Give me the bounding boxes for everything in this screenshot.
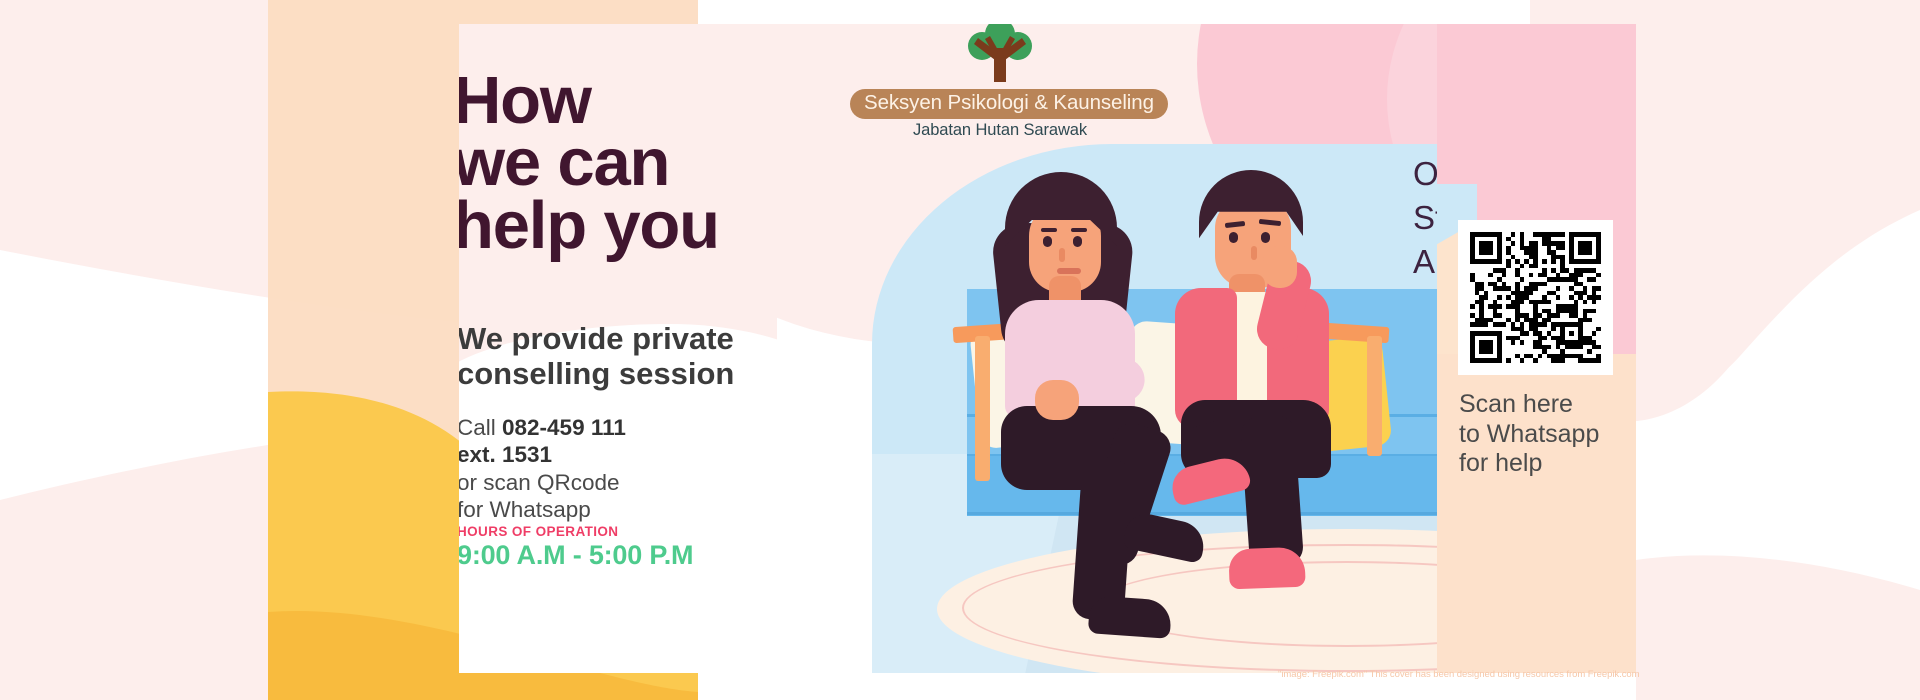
qr-panel: Scan here to Whatsapp for help bbox=[1437, 24, 1636, 673]
shoe-2 bbox=[1228, 547, 1305, 590]
eye-left bbox=[1229, 232, 1238, 243]
logo-department: Jabatan Hutan Sarawak bbox=[850, 121, 1150, 140]
mouth bbox=[1057, 268, 1081, 274]
qr-instruction-line-1: or scan QRcode bbox=[459, 469, 757, 496]
eye-right bbox=[1261, 232, 1270, 243]
sofa-leg-right bbox=[1367, 336, 1382, 456]
phone-number: 082-459 111 bbox=[502, 415, 626, 440]
eyebrow-left bbox=[1041, 228, 1057, 232]
phone-line: Call 082-459 111 bbox=[459, 414, 757, 441]
eye-right bbox=[1073, 236, 1082, 247]
qr-caption-line-1: Scan here bbox=[1459, 390, 1599, 420]
phone-extension: ext. 1531 bbox=[459, 442, 552, 467]
hours-value: 9:00 A.M - 5:00 P.M bbox=[459, 540, 693, 571]
qr-instruction-line-2: for Whatsapp bbox=[459, 496, 757, 523]
sofa-seam-3 bbox=[967, 512, 1487, 515]
call-label: Call bbox=[459, 415, 502, 440]
organization-logo: Seksyen Psikologi & Kaunseling Jabatan H… bbox=[850, 24, 1150, 140]
subheadline-line-1: We provide private bbox=[459, 321, 734, 356]
tree-icon bbox=[964, 24, 1036, 84]
eyebrow-right bbox=[1071, 228, 1087, 232]
headline-line-3: help you bbox=[459, 195, 834, 257]
eyebrow-right bbox=[1259, 219, 1281, 226]
hand-at-chin bbox=[1263, 246, 1297, 288]
contact-block: Call 082-459 111 ext. 1531 or scan QRcod… bbox=[459, 414, 757, 524]
qr-code-icon[interactable] bbox=[1470, 232, 1601, 363]
qr-code-container[interactable] bbox=[1458, 220, 1613, 375]
qr-caption-line-2: to Whatsapp bbox=[1459, 420, 1599, 450]
subheadline-line-2: conselling session bbox=[459, 356, 734, 391]
headline-line-1: How bbox=[459, 70, 834, 132]
subheadline: We provide private conselling session bbox=[459, 322, 787, 391]
nose bbox=[1251, 246, 1257, 260]
qr-caption-line-3: for help bbox=[1459, 449, 1599, 479]
nose bbox=[1059, 248, 1065, 262]
qr-caption: Scan here to Whatsapp for help bbox=[1459, 390, 1599, 479]
lower-leg-2 bbox=[1240, 414, 1304, 567]
hand bbox=[1035, 380, 1079, 420]
headline-line-2: we can bbox=[459, 132, 834, 194]
sofa-leg-left bbox=[975, 336, 990, 481]
page-title: How we can help you bbox=[459, 70, 834, 257]
hours-label: HOURS OF OPERATION bbox=[459, 524, 618, 539]
eye-left bbox=[1043, 236, 1052, 247]
eyebrow-left bbox=[1225, 221, 1245, 228]
image-credit: "image: Freepik.com" This cover has been… bbox=[1278, 669, 1640, 680]
logo-name: Seksyen Psikologi & Kaunseling bbox=[850, 89, 1168, 119]
